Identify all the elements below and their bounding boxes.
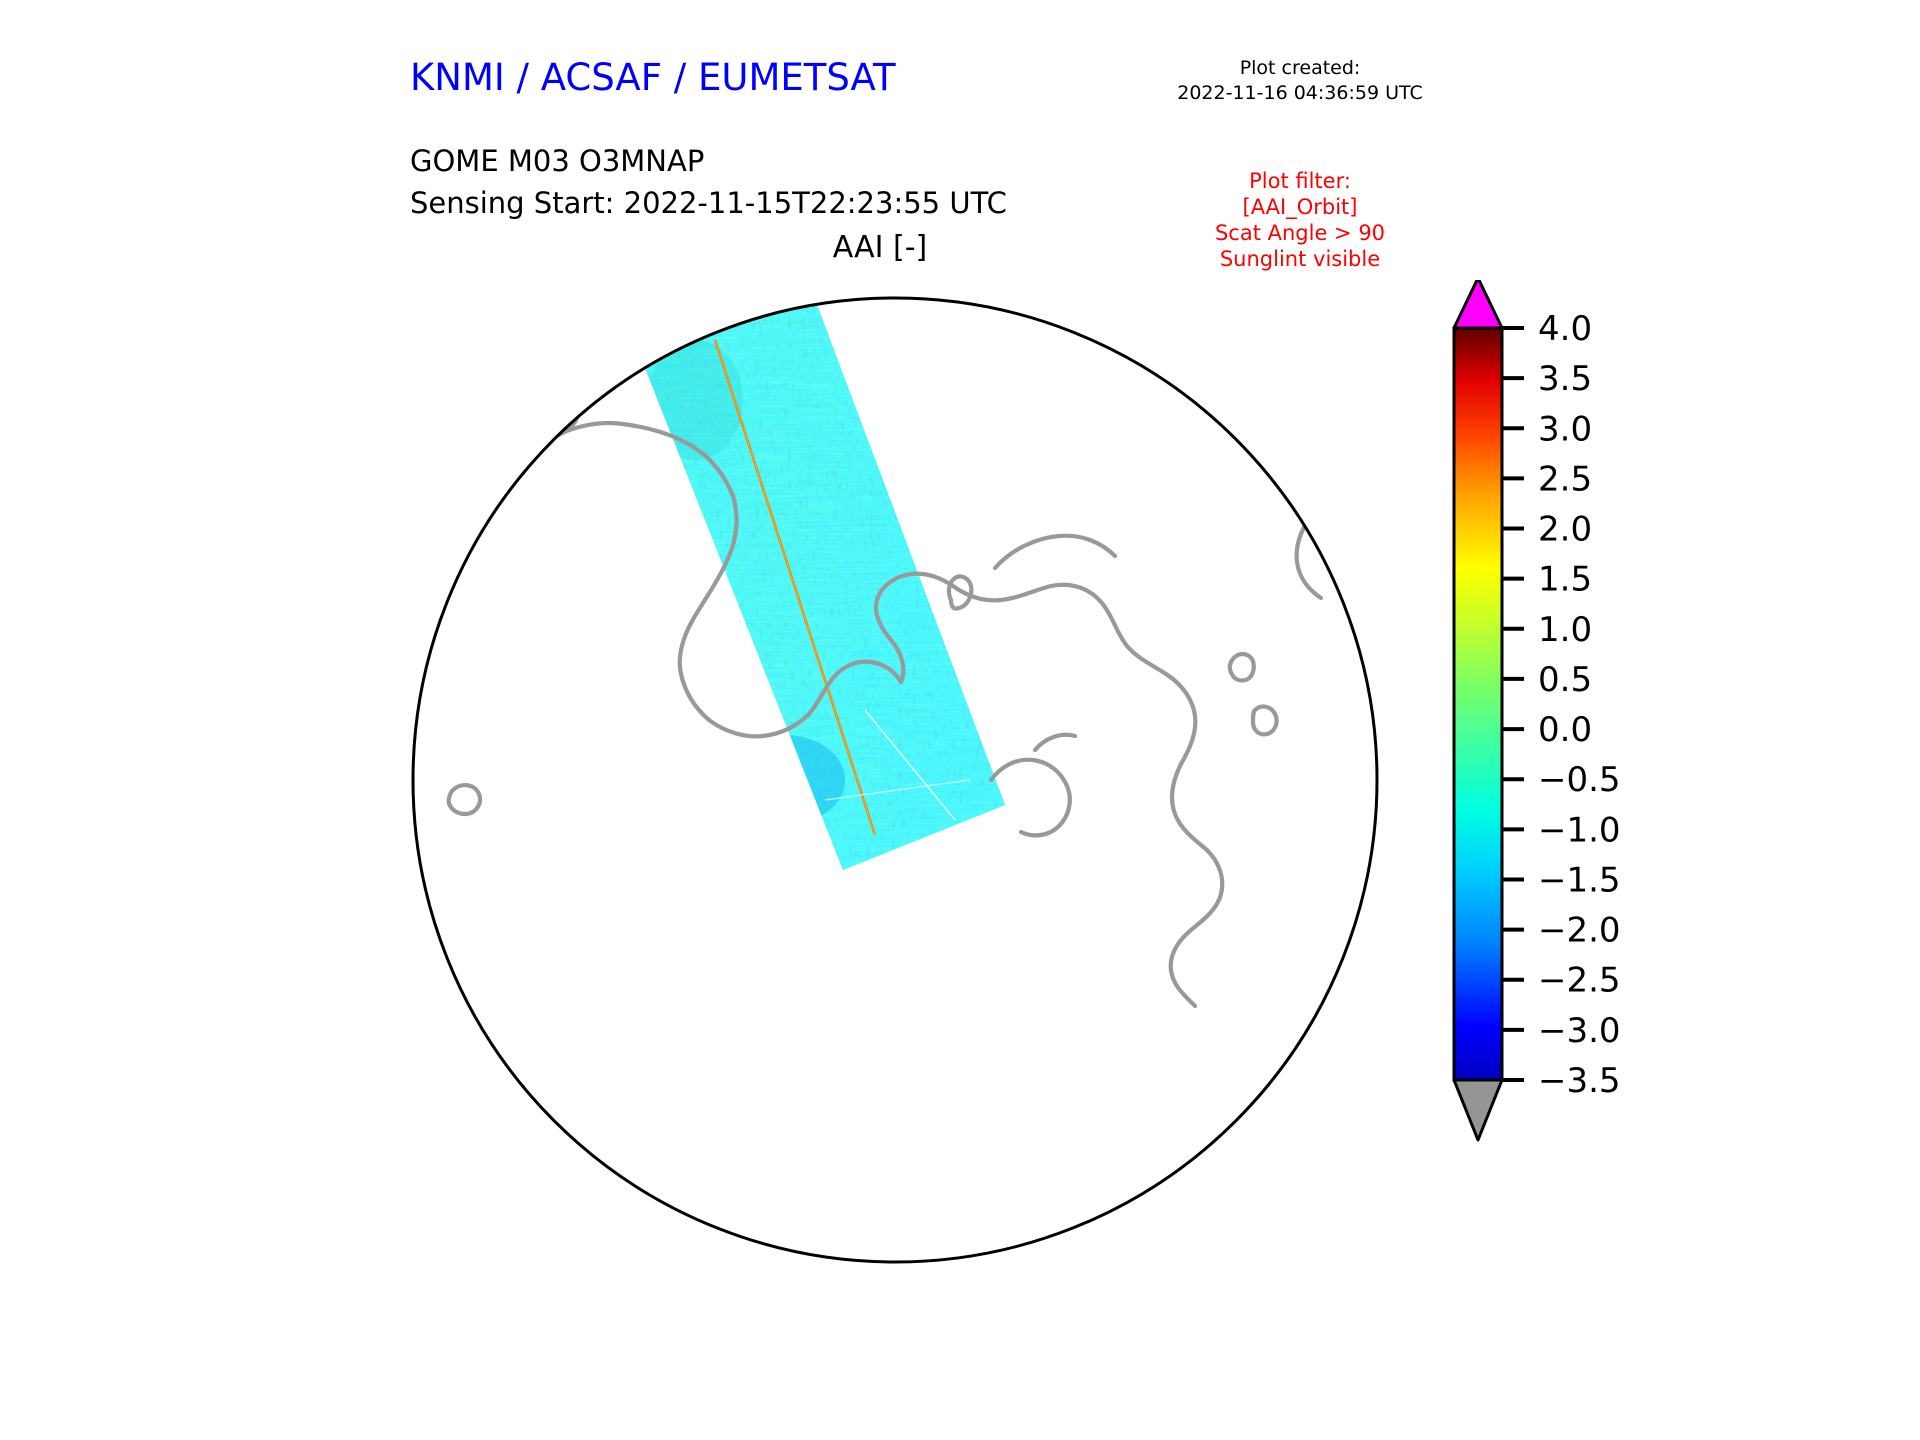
colorbar-tick-label: 2.5: [1538, 459, 1592, 499]
plot-filter-scat-angle: Scat Angle > 90: [1150, 220, 1450, 246]
plot-filter-block: Plot filter: [AAI_Orbit] Scat Angle > 90…: [1150, 168, 1450, 272]
plot-filter-label: Plot filter:: [1150, 168, 1450, 194]
colorbar-tick-label: 2.0: [1538, 510, 1592, 550]
plot-filter-variable: [AAI_Orbit]: [1150, 194, 1450, 220]
colorbar-ticks: 4.03.53.02.52.01.51.00.50.0−0.5−1.0−1.5−…: [1502, 309, 1621, 1101]
organisation-title: KNMI / ACSAF / EUMETSAT: [410, 56, 896, 99]
plot-created-block: Plot created: 2022-11-16 04:36:59 UTC: [1140, 56, 1460, 106]
data-swath: [575, 280, 1055, 900]
map-svg: [395, 280, 1395, 1280]
plot-created-label: Plot created:: [1140, 56, 1460, 81]
colorbar-tick-label: −2.0: [1538, 911, 1621, 951]
colorbar-svg: 4.03.53.02.52.01.51.00.50.0−0.5−1.0−1.5−…: [1440, 280, 1860, 1320]
colorbar-tick-label: 0.5: [1538, 660, 1592, 700]
colorbar-tick-label: −1.0: [1538, 810, 1621, 850]
colorbar-over-arrow: [1454, 280, 1502, 328]
colorbar-tick-label: −0.5: [1538, 760, 1621, 800]
plot-created-timestamp: 2022-11-16 04:36:59 UTC: [1140, 81, 1460, 106]
colorbar-tick-label: 3.0: [1538, 409, 1592, 449]
colorbar-tick-label: −3.5: [1538, 1061, 1621, 1101]
colorbar-tick-label: −3.0: [1538, 1011, 1621, 1051]
colorbar-under-arrow: [1454, 1080, 1502, 1140]
dataset-name: GOME M03 O3MNAP: [410, 140, 1007, 182]
colorbar-tick-label: 0.0: [1538, 710, 1592, 750]
page-title: AAI [-]: [660, 230, 1100, 265]
colorbar-tick-label: −2.5: [1538, 961, 1621, 1001]
dataset-info-block: GOME M03 O3MNAP Sensing Start: 2022-11-1…: [410, 140, 1007, 224]
colorbar-tick-label: 3.5: [1538, 359, 1592, 399]
map-panel: [395, 280, 1395, 1280]
sensing-start: Sensing Start: 2022-11-15T22:23:55 UTC: [410, 182, 1007, 224]
colorbar-gradient: [1454, 328, 1502, 1080]
colorbar-tick-label: 1.0: [1538, 610, 1592, 650]
plot-filter-sunglint: Sunglint visible: [1150, 246, 1450, 272]
colorbar-panel: 4.03.53.02.52.01.51.00.50.0−0.5−1.0−1.5−…: [1440, 280, 1860, 1320]
colorbar-tick-label: 4.0: [1538, 309, 1592, 349]
colorbar-tick-label: −1.5: [1538, 860, 1621, 900]
colorbar-tick-label: 1.5: [1538, 560, 1592, 600]
